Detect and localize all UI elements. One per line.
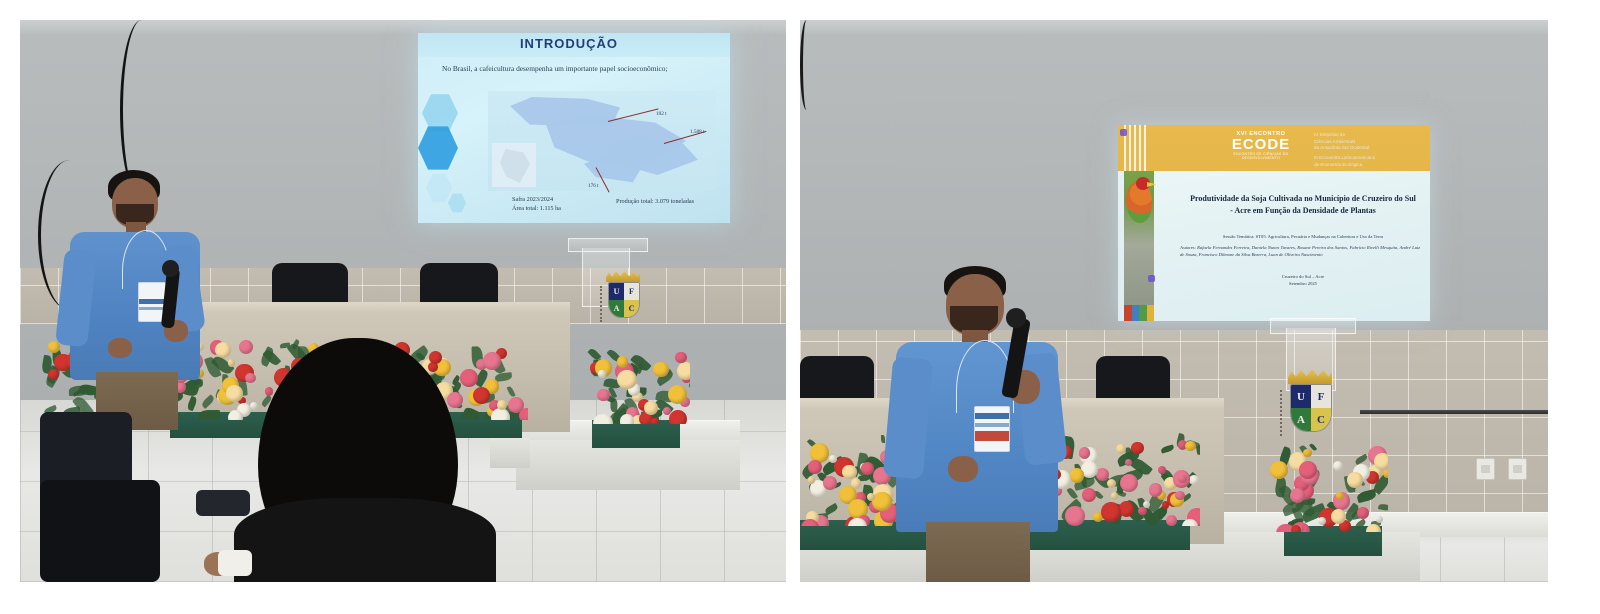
thematic-session: Sessão Temática: ST05. Agricultura, Pecu… bbox=[1184, 234, 1422, 239]
audience-member-front bbox=[198, 338, 538, 582]
map-value-label-1: 102 t bbox=[656, 111, 667, 117]
presenter-hand-right-1 bbox=[948, 456, 978, 482]
authors-block: Autores: Rafaela Fernandes Ferreira, Dan… bbox=[1180, 245, 1420, 259]
wave-pattern-decor bbox=[1124, 125, 1146, 171]
chair-back-1 bbox=[272, 263, 348, 307]
crest-quadrant-right-1: U bbox=[1291, 385, 1311, 408]
slide-date: Setembro 2025 bbox=[1184, 281, 1422, 288]
purple-square-decor-1 bbox=[1120, 129, 1127, 136]
crest-crown bbox=[606, 270, 640, 282]
flower-bloom bbox=[1303, 449, 1312, 458]
hexagon-decor-3 bbox=[426, 173, 452, 203]
brazil-acre-map: 102 t 1.588 t 176 t bbox=[488, 91, 716, 191]
slide-body-text: No Brasil, a cafeicultura desempenha um … bbox=[442, 63, 716, 74]
flower-bloom bbox=[1347, 472, 1363, 488]
badge-stripe-right-1 bbox=[975, 413, 1009, 419]
bird-photo-panel bbox=[1124, 171, 1154, 305]
flower-bloom bbox=[598, 370, 605, 377]
flower-bloom bbox=[808, 460, 822, 474]
light-switch-button-2[interactable] bbox=[1513, 465, 1522, 473]
presenter-left bbox=[60, 160, 220, 430]
ecode-logo: XVI ENCONTRO ECODE ENCONTRO DE CIÊNCIAS … bbox=[1222, 131, 1300, 160]
event-line-2: Ciências Ambientais bbox=[1314, 139, 1429, 146]
swatch-green bbox=[1139, 305, 1147, 321]
badge-stripe-right-3 bbox=[975, 431, 1009, 441]
flower-bloom bbox=[1107, 479, 1116, 488]
light-switch-button-1[interactable] bbox=[1481, 465, 1490, 473]
authors-label: Autores: bbox=[1180, 245, 1196, 250]
light-switch-2[interactable] bbox=[1508, 458, 1527, 480]
wall-rail-right bbox=[1360, 410, 1548, 414]
flower-bloom bbox=[842, 465, 856, 479]
flower-bloom bbox=[48, 369, 59, 380]
place-date-block: Cruzeiro do Sul – Acre Setembro 2025 bbox=[1184, 274, 1422, 288]
flower-bloom bbox=[617, 370, 637, 390]
hexagon-decor-4 bbox=[448, 193, 466, 213]
flower-bloom bbox=[1383, 469, 1388, 478]
presenter-pants-right bbox=[926, 522, 1030, 582]
event-line-5: de Economía Ecológica bbox=[1314, 162, 1429, 169]
flower-bloom bbox=[1185, 441, 1196, 452]
flower-bloom bbox=[677, 362, 690, 380]
authors-list: Rafaela Fernandes Ferreira, Daniela Nune… bbox=[1180, 245, 1420, 257]
flower-bloom bbox=[1374, 453, 1388, 470]
flower-bloom bbox=[1162, 501, 1169, 508]
ufac-crest-left: U F A C bbox=[598, 270, 646, 326]
microphone-head-right bbox=[1006, 308, 1026, 328]
slide-place: Cruzeiro do Sul – Acre bbox=[1184, 274, 1422, 281]
flower-bloom bbox=[851, 478, 862, 489]
flower-bloom bbox=[1166, 515, 1177, 526]
projection-screen-right: XVI ENCONTRO ECODE ENCONTRO DE CIÊNCIAS … bbox=[1118, 125, 1430, 321]
presenter-hand-left-1 bbox=[108, 338, 132, 358]
ecode-logo-main: ECODE bbox=[1222, 137, 1300, 152]
flower-bloom bbox=[1131, 442, 1144, 455]
event-line-4: III Encuentro Latinoamericano bbox=[1314, 155, 1429, 162]
crest-quadrant-3: A bbox=[609, 300, 624, 317]
swatch-red bbox=[1124, 305, 1132, 321]
ecode-logo-sub: ENCONTRO DE CIÊNCIAS DO DESENVOLVIMENTO bbox=[1222, 152, 1300, 160]
presenter-badge-right bbox=[974, 406, 1010, 452]
swatch-yellow bbox=[1147, 305, 1155, 321]
microphone-head-left bbox=[162, 260, 179, 277]
map-value-label-3: 176 t bbox=[588, 183, 599, 189]
flower-arrangement-left-2 bbox=[586, 326, 690, 424]
brazil-inset-map bbox=[492, 143, 536, 187]
flower-bloom bbox=[1138, 507, 1146, 515]
flower-leaf bbox=[610, 399, 617, 413]
wall-cable-right bbox=[800, 20, 813, 110]
flower-bloom bbox=[1291, 525, 1301, 532]
slide-title: INTRODUÇÃO bbox=[418, 36, 720, 51]
swatch-blue bbox=[1132, 305, 1140, 321]
flower-bloom bbox=[829, 455, 837, 463]
harvest-season-label: Safra 2023/2024 bbox=[512, 196, 553, 203]
screenshot-root: INTRODUÇÃO No Brasil, a cafeicultura des… bbox=[0, 0, 1600, 614]
flower-bloom bbox=[620, 414, 634, 424]
flower-planter-left-2 bbox=[592, 420, 680, 448]
brazil-outline bbox=[500, 149, 530, 183]
flower-bloom bbox=[668, 385, 687, 404]
crest-quadrant-1: U bbox=[609, 283, 624, 300]
crest-quadrant-right-2: F bbox=[1311, 385, 1331, 408]
audience-paper bbox=[218, 550, 252, 576]
hexagon-decor-2 bbox=[418, 125, 458, 171]
flower-leaf bbox=[824, 503, 839, 515]
flower-bloom bbox=[1376, 516, 1383, 523]
projection-screen-left: INTRODUÇÃO No Brasil, a cafeicultura des… bbox=[418, 33, 730, 223]
presenter-right bbox=[888, 260, 1078, 582]
flower-bloom bbox=[1119, 501, 1134, 516]
flower-arrangement-right-2 bbox=[1270, 422, 1388, 532]
event-line-3: da Amazônia Sul Ocidental bbox=[1314, 145, 1429, 152]
flower-bloom bbox=[1333, 461, 1343, 471]
flower-bloom bbox=[823, 476, 837, 490]
event-subtitle-block: IV Simpósio de Ciências Ambientais da Am… bbox=[1314, 132, 1429, 168]
crest-quadrant-4: C bbox=[624, 300, 639, 317]
foreground-chair-2 bbox=[40, 480, 160, 582]
flower-bloom bbox=[1111, 492, 1118, 499]
purple-square-decor-2 bbox=[1148, 275, 1155, 282]
flower-bloom bbox=[597, 389, 609, 401]
flower-bloom bbox=[1299, 461, 1317, 479]
map-value-label-2: 1.588 t bbox=[690, 129, 704, 135]
color-swatch-strip bbox=[1124, 305, 1154, 321]
right-presentation-photo: XVI ENCONTRO ECODE ENCONTRO DE CIÊNCIAS … bbox=[800, 20, 1548, 582]
badge-stripe-right-2 bbox=[975, 423, 1009, 427]
slide-body-right: Produtividade da Soja Cultivada no Munic… bbox=[1154, 171, 1430, 321]
slide-introducao: INTRODUÇÃO No Brasil, a cafeicultura des… bbox=[418, 33, 730, 223]
slide-header-band: XVI ENCONTRO ECODE ENCONTRO DE CIÊNCIAS … bbox=[1118, 125, 1430, 171]
flower-bloom bbox=[651, 418, 659, 424]
crest-shield: U F A C bbox=[608, 282, 640, 318]
total-area-label: Área total: 1.115 ha bbox=[512, 205, 561, 212]
left-presentation-photo: INTRODUÇÃO No Brasil, a cafeicultura des… bbox=[20, 20, 786, 582]
crest-quadrant-2: F bbox=[624, 283, 639, 300]
light-switch-1[interactable] bbox=[1476, 458, 1495, 480]
flower-bloom bbox=[1101, 502, 1121, 522]
badge-stripe-left bbox=[139, 299, 165, 304]
flower-leaf bbox=[1378, 503, 1388, 512]
crest-chain-left bbox=[600, 286, 602, 322]
flower-bloom bbox=[1175, 491, 1185, 501]
flower-bloom bbox=[669, 410, 687, 424]
flower-bloom bbox=[1357, 507, 1370, 520]
ceiling-band-right bbox=[800, 20, 1548, 36]
flower-bloom bbox=[1270, 461, 1288, 479]
flower-bloom bbox=[1149, 483, 1163, 497]
flower-leaf bbox=[1355, 519, 1367, 530]
flower-bloom bbox=[1189, 475, 1199, 485]
flower-bloom bbox=[644, 401, 658, 415]
badge-stripe-left-2 bbox=[139, 307, 165, 310]
crest-crown-right bbox=[1288, 368, 1332, 384]
chair-back-2 bbox=[420, 263, 498, 307]
foreground-chair-arm bbox=[196, 490, 250, 516]
audience-shoulders bbox=[234, 498, 496, 582]
event-line-1: IV Simpósio de bbox=[1314, 132, 1429, 139]
total-production-label: Produção total: 3.079 toneladas bbox=[616, 198, 694, 205]
presentation-title: Produtividade da Soja Cultivada no Munic… bbox=[1188, 193, 1418, 216]
flower-bloom bbox=[1120, 474, 1139, 493]
flower-leaf bbox=[1160, 444, 1174, 454]
flower-bloom bbox=[1178, 475, 1186, 483]
flower-leaf bbox=[881, 435, 885, 443]
flower-bloom bbox=[1082, 488, 1096, 502]
